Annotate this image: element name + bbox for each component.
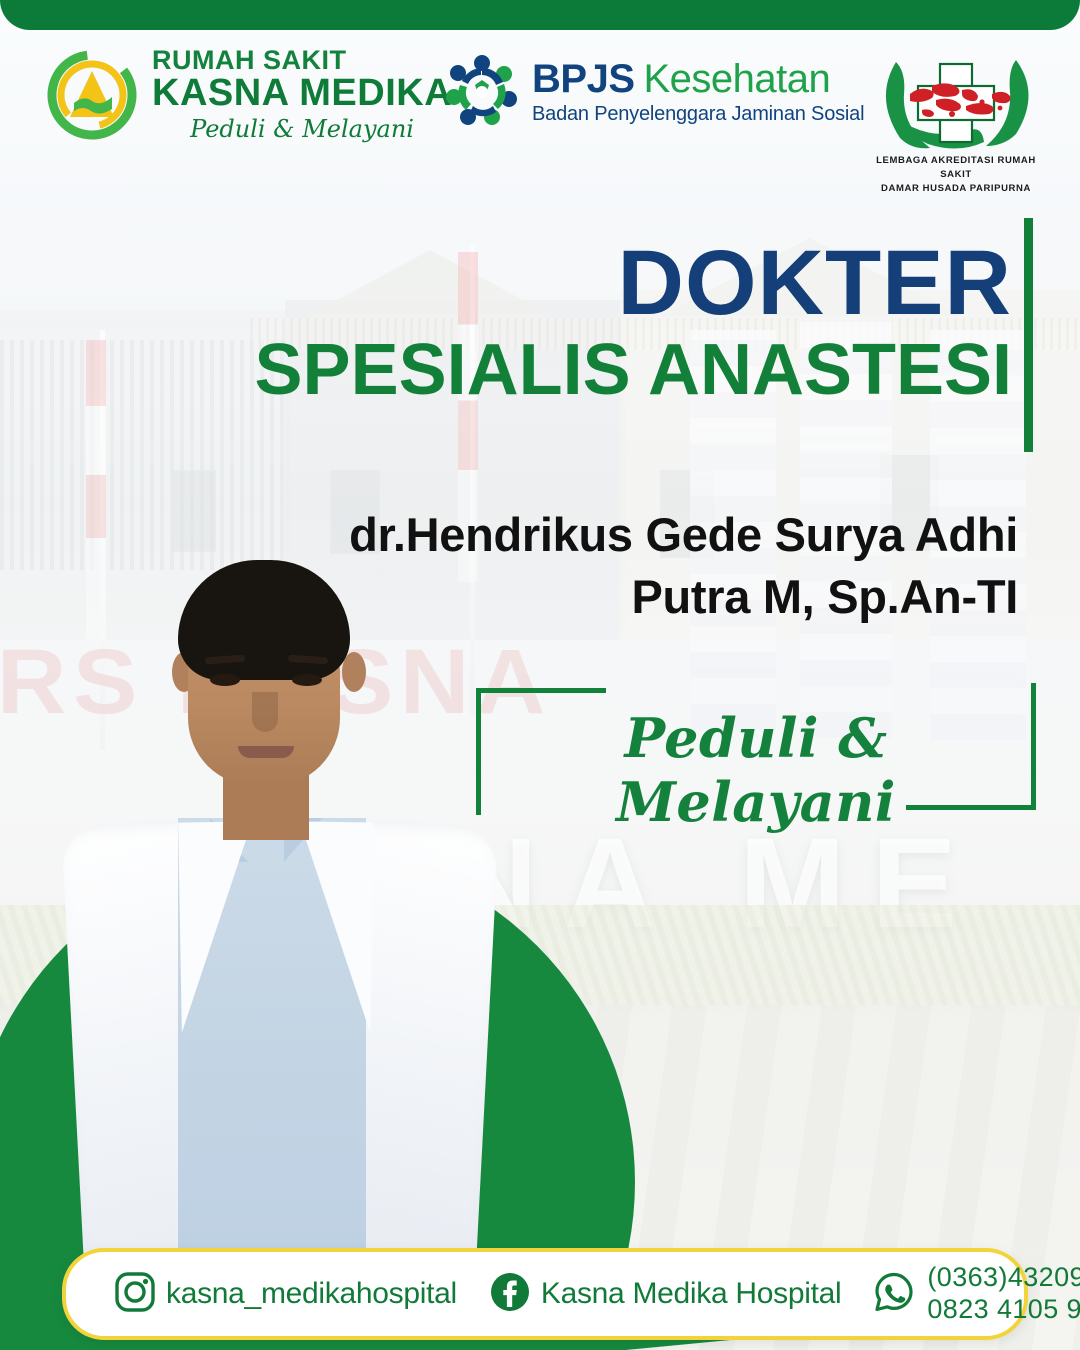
whatsapp-phone-2: 0823 4105 9339 bbox=[927, 1294, 1080, 1326]
doctor-ear-right bbox=[342, 652, 366, 692]
bpjs-subtitle: Badan Penyelenggara Jaminan Sosial bbox=[532, 102, 864, 126]
bpjs-kesehatan-logo-icon bbox=[446, 54, 518, 131]
bpjs-brand-light: Kesehatan bbox=[644, 57, 831, 101]
tagline-frame: Peduli & Melayani bbox=[476, 688, 1036, 810]
instagram-icon bbox=[114, 1271, 156, 1318]
accreditation-line2: DAMAR HUSADA PARIPURNA bbox=[866, 182, 1046, 196]
doctor-portrait bbox=[60, 560, 530, 1350]
headline-line2: SPESIALIS ANASTESI bbox=[0, 334, 1012, 406]
contact-facebook[interactable]: Kasna Medika Hospital bbox=[489, 1271, 842, 1318]
bpjs-brand-bold: BPJS bbox=[532, 57, 635, 101]
headline-line1: DOKTER bbox=[0, 238, 1012, 328]
contact-bar: kasna_medikahospital Kasna Medika Hospit… bbox=[62, 1248, 1028, 1340]
doctor-eye-left bbox=[210, 674, 240, 686]
whatsapp-numbers: (0363)4320991 0823 4105 9339 bbox=[927, 1262, 1080, 1326]
doctor-lapel-left bbox=[178, 821, 256, 1032]
accreditation-line1: LEMBAGA AKREDITASI RUMAH SAKIT bbox=[866, 154, 1046, 182]
instagram-handle: kasna_medikahospital bbox=[166, 1277, 457, 1311]
accreditation-logo: LEMBAGA AKREDITASI RUMAH SAKIT DAMAR HUS… bbox=[866, 42, 1046, 207]
tagline-text: Peduli & Melayani bbox=[476, 706, 1036, 834]
kasna-medika-logo-icon bbox=[44, 47, 140, 143]
whatsapp-phone-1: (0363)4320991 bbox=[927, 1262, 1080, 1294]
facebook-icon bbox=[489, 1271, 531, 1318]
top-green-bar bbox=[0, 0, 1080, 30]
accreditation-caption: LEMBAGA AKREDITASI RUMAH SAKIT DAMAR HUS… bbox=[866, 154, 1046, 195]
kasna-line3: Peduli & Melayani bbox=[152, 115, 452, 143]
kasna-line2: KASNA MEDIKA bbox=[152, 74, 452, 114]
poster-root: RS KASNA KASNA ME RUMAH SAKIT KASNA MEDI… bbox=[0, 0, 1080, 1350]
headline-vertical-rule bbox=[1024, 218, 1033, 452]
doctor-lapel-right bbox=[296, 821, 374, 1032]
doctor-mouth bbox=[238, 746, 294, 758]
facebook-page: Kasna Medika Hospital bbox=[541, 1277, 842, 1311]
doctor-eye-right bbox=[292, 674, 322, 686]
contact-whatsapp[interactable]: (0363)4320991 0823 4105 9339 bbox=[871, 1262, 1080, 1326]
accreditation-logo-icon bbox=[866, 42, 1046, 162]
doctor-nose bbox=[252, 692, 278, 732]
kasna-medika-logo: RUMAH SAKIT KASNA MEDIKA Peduli & Melaya… bbox=[44, 46, 452, 143]
contact-instagram[interactable]: kasna_medikahospital bbox=[114, 1271, 457, 1318]
kasna-line1: RUMAH SAKIT bbox=[152, 46, 452, 74]
whatsapp-icon bbox=[871, 1269, 917, 1320]
header-logo-row: RUMAH SAKIT KASNA MEDIKA Peduli & Melaya… bbox=[0, 42, 1080, 177]
bpjs-kesehatan-logo: BPJSKesehatan Badan Penyelenggara Jamina… bbox=[446, 54, 864, 131]
doctor-name-line1: dr.Hendrikus Gede Surya Adhi bbox=[0, 504, 1018, 566]
bpjs-wordmark: BPJSKesehatan Badan Penyelenggara Jamina… bbox=[532, 59, 864, 126]
kasna-medika-wordmark: RUMAH SAKIT KASNA MEDIKA Peduli & Melaya… bbox=[152, 46, 452, 143]
headline-block: DOKTER SPESIALIS ANASTESI bbox=[0, 238, 1012, 406]
